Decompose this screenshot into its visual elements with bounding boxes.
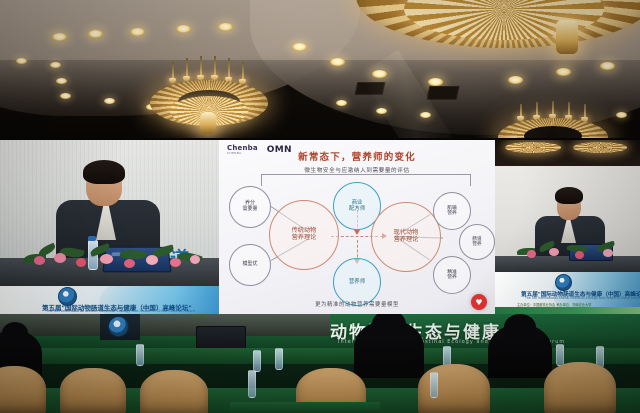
audience-chair bbox=[544, 362, 616, 413]
feed-chandelier bbox=[573, 142, 627, 153]
podium-flowers bbox=[515, 240, 630, 264]
node-model-optimization[interactable]: 模型优 bbox=[229, 244, 271, 286]
node-label-line2: 配方师 bbox=[349, 206, 365, 212]
live-feed-left: 肠道 bbox=[0, 140, 219, 316]
ceiling-spotlight bbox=[556, 68, 571, 76]
audience-table-front bbox=[230, 402, 380, 413]
water-bottle bbox=[248, 370, 256, 398]
ceiling-spotlight bbox=[52, 33, 67, 41]
conference-hall-photo: 肠道 bbox=[0, 0, 640, 413]
node-label-line2: 需要量 bbox=[242, 207, 257, 213]
node-label-line1: 模型优 bbox=[242, 262, 257, 268]
presentation-slide: Chenba CHENBA OMN 新常态下，营养师的变化 微生物安全与应激纳入… bbox=[219, 140, 495, 316]
ceiling-spotlight bbox=[508, 76, 523, 84]
audience-person-head bbox=[504, 314, 536, 340]
led-screen: 肠道 bbox=[0, 138, 640, 316]
slide-title: 新常态下，营养师的变化 bbox=[219, 149, 495, 163]
ceiling-spotlight bbox=[218, 23, 233, 31]
speaker-hair bbox=[83, 160, 125, 184]
ceiling-spotlight bbox=[176, 25, 191, 33]
water-bottle bbox=[430, 372, 438, 398]
ceiling-spotlight bbox=[104, 98, 115, 104]
ceiling-spotlight bbox=[428, 78, 443, 86]
live-feed-right: 第五届"国际动物肠道生态与健康（中国）高峰论坛" The 5th Interna… bbox=[495, 140, 640, 316]
ceiling-spotlight bbox=[130, 28, 145, 36]
slide-watermark-icon: ♥ bbox=[471, 294, 487, 310]
node-label-line2: 营养 bbox=[447, 275, 457, 280]
water-bottle bbox=[556, 344, 564, 366]
ceiling-spotlight bbox=[60, 93, 71, 99]
slide-subtitle: 微生物安全与应激纳入到需要量的评估 bbox=[219, 166, 495, 174]
water-bottle bbox=[253, 350, 261, 372]
node-nutrient-requirement[interactable]: 养分 需要量 bbox=[229, 186, 271, 228]
node-traditional-animal-nutrition[interactable]: 传统动物 营养理论 bbox=[269, 200, 339, 270]
podium-flowers bbox=[20, 244, 210, 280]
forum-seal-logo bbox=[555, 274, 572, 291]
ceiling-spotlight bbox=[292, 43, 307, 51]
ceiling-spotlight bbox=[50, 62, 61, 68]
ceiling-spotlight bbox=[88, 30, 103, 38]
node-precision-nutrition[interactable]: 精准 营养 bbox=[433, 256, 471, 294]
water-bottle bbox=[136, 344, 144, 366]
audience-laptop bbox=[196, 326, 246, 350]
node-label-line1: 营养师 bbox=[349, 279, 365, 285]
node-modern-animal-nutrition[interactable]: 现代动物 营养理论 bbox=[371, 202, 441, 272]
feed-lower-banner: 第五届"国际动物肠道生态与健康（中国）高峰论坛" The 5th Interna… bbox=[0, 286, 219, 316]
ceiling-spotlight bbox=[16, 58, 27, 64]
stage-edge bbox=[0, 314, 330, 336]
forum-title-english: The 5th International Animal Intestinal … bbox=[525, 296, 640, 300]
transition-arrow-head-down bbox=[354, 230, 360, 235]
node-label-line2: 营养 bbox=[472, 242, 481, 247]
water-bottle bbox=[275, 348, 283, 370]
audience-area: 动物肠道生态与健康 International Animal Intestina… bbox=[0, 314, 640, 413]
ceiling-spotlight bbox=[56, 78, 67, 84]
node-muscle-nutrition[interactable]: 肌输 营养 bbox=[433, 192, 471, 230]
speaker-hair bbox=[555, 187, 583, 204]
feed-chandelier bbox=[505, 142, 561, 153]
node-label-line2: 营养 bbox=[447, 211, 457, 216]
audience-chair bbox=[418, 364, 490, 413]
slide-footer-text: 更为精准的动物营养需要量模型 bbox=[219, 300, 495, 308]
ceiling-spotlight bbox=[600, 62, 615, 70]
feed-lower-banner: 第五届"国际动物肠道生态与健康（中国）高峰论坛" The 5th Interna… bbox=[495, 272, 640, 316]
node-label-line2: 营养理论 bbox=[292, 235, 317, 242]
ceiling-spotlight bbox=[616, 112, 627, 118]
ac-vent bbox=[427, 86, 460, 100]
ceiling bbox=[0, 0, 640, 150]
ceiling-spotlight bbox=[330, 58, 345, 66]
audience-person-head bbox=[2, 322, 28, 344]
node-label-line2: 营养理论 bbox=[394, 237, 419, 244]
node-gut-nutrition[interactable]: 肠道 营养 bbox=[459, 224, 495, 260]
water-bottle-cap bbox=[88, 236, 96, 241]
ceiling-spotlight bbox=[336, 100, 347, 106]
node-nutritionist[interactable]: 营养师 bbox=[333, 258, 381, 306]
audience-chair bbox=[140, 370, 208, 413]
podium-seal-logo bbox=[108, 316, 129, 337]
audience-chair bbox=[60, 368, 126, 413]
